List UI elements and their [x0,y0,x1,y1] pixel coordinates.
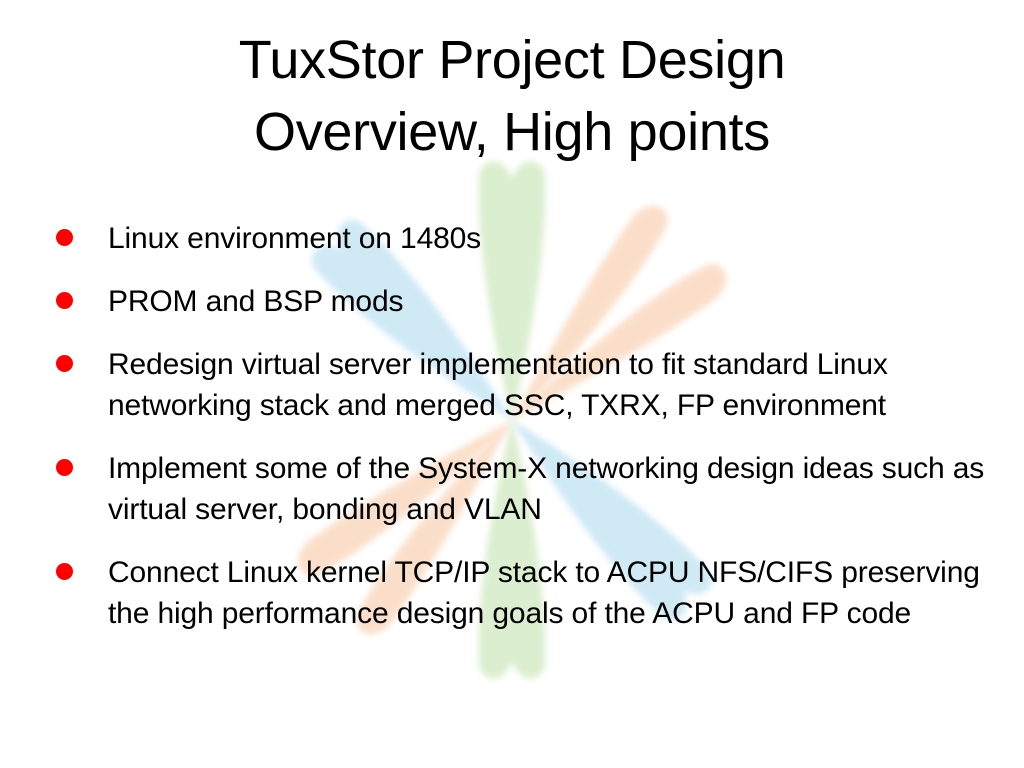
list-item: Implement some of the System-X networkin… [56,448,1004,530]
list-item: Redesign virtual server implementation t… [56,344,1004,426]
bullet-text: Connect Linux kernel TCP/IP stack to ACP… [108,552,988,634]
bullet-text: Linux environment on 1480s [108,218,988,259]
slide-title: TuxStor Project Design Overview, High po… [0,24,1024,168]
bullet-dot-icon [56,355,73,372]
slide-canvas: TuxStor Project Design Overview, High po… [0,0,1024,768]
list-item: Connect Linux kernel TCP/IP stack to ACP… [56,552,1004,634]
bullet-dot-icon [56,459,73,476]
slide-title-line-1: TuxStor Project Design [0,24,1024,96]
bullet-dot-icon [56,292,73,309]
bullet-dot-icon [56,563,73,580]
bullet-text: PROM and BSP mods [108,281,988,322]
list-item: PROM and BSP mods [56,281,1004,322]
bullet-text: Redesign virtual server implementation t… [108,344,988,426]
slide-title-line-2: Overview, High points [0,96,1024,168]
bullet-text: Implement some of the System-X networkin… [108,448,988,530]
bullet-dot-icon [56,229,73,246]
bullet-list: Linux environment on 1480s PROM and BSP … [56,218,1004,656]
list-item: Linux environment on 1480s [56,218,1004,259]
